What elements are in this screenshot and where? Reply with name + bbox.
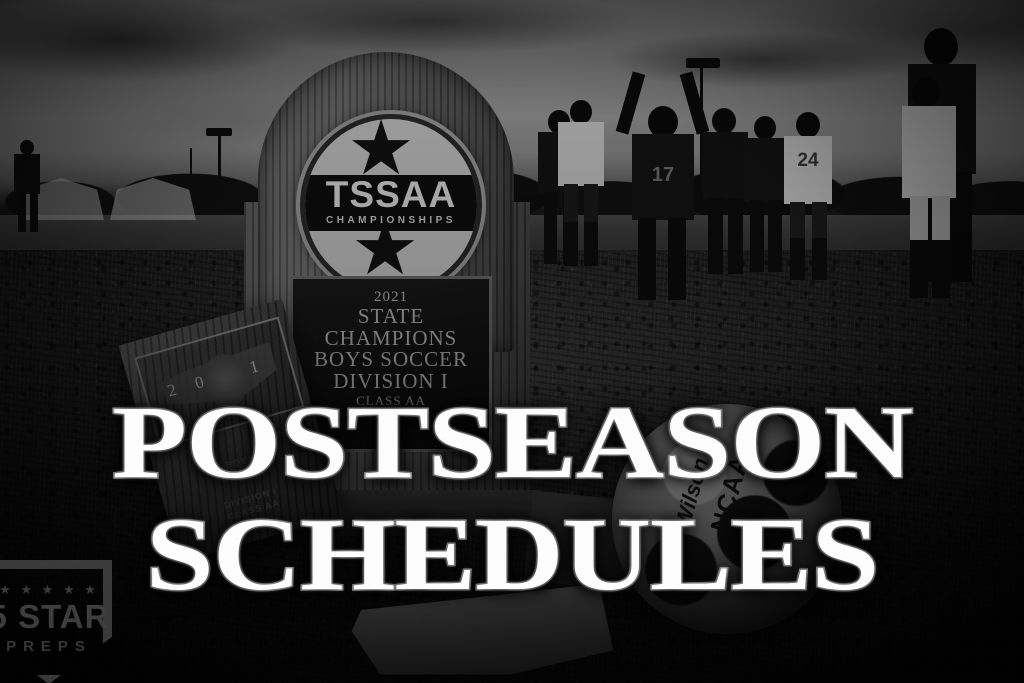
watermark-title: 5 STAR xyxy=(0,598,112,636)
medallion-subtitle: CHAMPIONSHIPS xyxy=(305,215,477,226)
plaque-line-division: DIVISION I xyxy=(299,371,483,393)
light-pole-head-right xyxy=(686,58,720,68)
player-jersey-number: 24 xyxy=(784,150,832,172)
plaque-line-state: STATE xyxy=(299,306,483,328)
plaque-line-sport: BOYS SOCCER xyxy=(299,349,483,371)
soccer-ball: Wilson NCAA xyxy=(612,404,842,634)
watermark-subtitle: PREPS xyxy=(0,638,112,655)
trophy-plaque-text: 2021 STATE CHAMPIONS BOYS SOCCER DIVISIO… xyxy=(299,285,483,443)
sports-graphic-canvas: 17 24 xyxy=(0,0,1024,683)
plaque-line-champions: CHAMPIONS xyxy=(299,328,483,350)
side-plaque-plate: 2021 xyxy=(134,317,304,449)
player-jersey-number: 17 xyxy=(632,164,694,187)
medallion-title: TSSAA xyxy=(305,175,477,215)
plaque-line-class: CLASS AA xyxy=(299,393,483,409)
five-star-preps-watermark: ★ ★ ★ ★ ★ 5 STAR PREPS xyxy=(0,560,112,683)
tssaa-medallion: ★ ★ TSSAA CHAMPIONSHIPS xyxy=(300,114,482,296)
stars-icon: ★ ★ ★ ★ ★ xyxy=(0,582,112,598)
light-pole-head-far xyxy=(206,128,232,136)
trophy-plaque: 2021 STATE CHAMPIONS BOYS SOCCER DIVISIO… xyxy=(290,276,492,452)
